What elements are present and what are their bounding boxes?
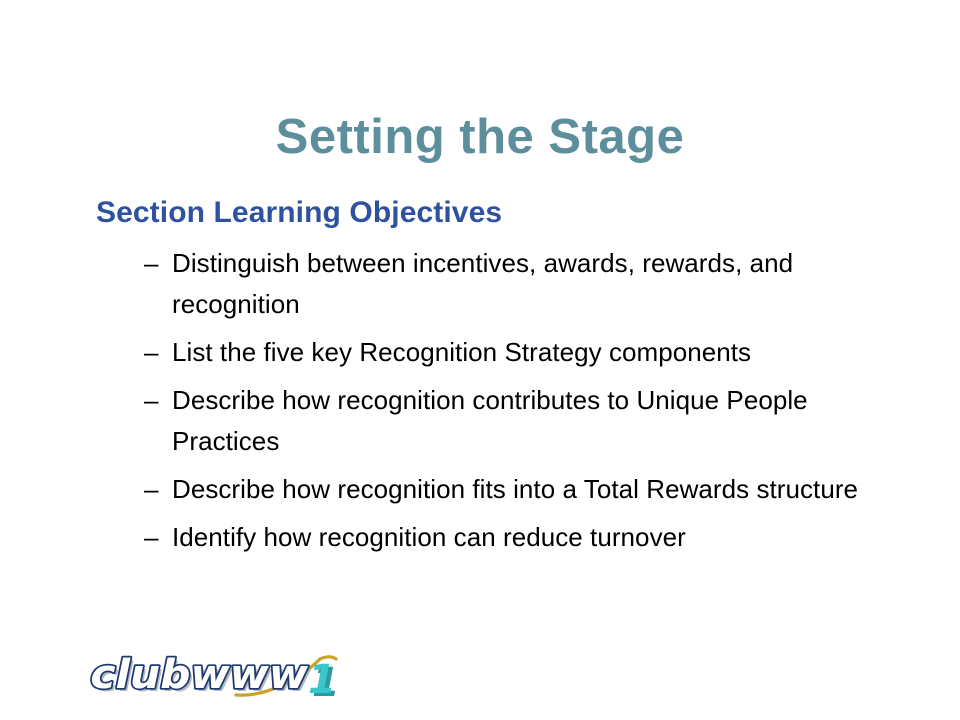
list-item: – Describe how recognition fits into a T… — [96, 469, 911, 510]
numeral-one: 1 — [308, 657, 336, 703]
learning-objectives-list: – Distinguish between incentives, awards… — [96, 243, 911, 558]
list-item: – Identify how recognition can reduce tu… — [96, 517, 911, 558]
bullet-dash-marker: – — [144, 243, 159, 284]
list-item: – List the five key Recognition Strategy… — [96, 332, 911, 373]
wordmark-clubwww: clubwww — [90, 651, 309, 698]
list-item-label: Identify how recognition can reduce turn… — [172, 522, 686, 552]
list-item-label: Describe how recognition contributes to … — [172, 385, 808, 456]
section-heading: Section Learning Objectives — [96, 196, 911, 231]
list-item-label: Describe how recognition fits into a Tot… — [172, 474, 858, 504]
list-item: – Describe how recognition contributes t… — [96, 380, 911, 462]
slide-body: Section Learning Objectives – Distinguis… — [96, 196, 911, 565]
bullet-dash-marker: – — [144, 469, 159, 510]
clubwww1-logo: clubwww clubwww 1 1 — [84, 643, 364, 705]
page-title: Setting the Stage — [0, 111, 960, 164]
bullet-dash-marker: – — [144, 380, 159, 421]
clubwww1-logo-graphic: clubwww clubwww 1 1 — [84, 643, 364, 705]
slide-canvas: Setting the Stage Section Learning Objec… — [0, 0, 960, 720]
bullet-dash-marker: – — [144, 332, 159, 373]
list-item-label: Distinguish between incentives, awards, … — [172, 248, 793, 319]
list-item-label: List the five key Recognition Strategy c… — [172, 337, 751, 367]
bullet-dash-marker: – — [144, 517, 159, 558]
list-item: – Distinguish between incentives, awards… — [96, 243, 911, 325]
